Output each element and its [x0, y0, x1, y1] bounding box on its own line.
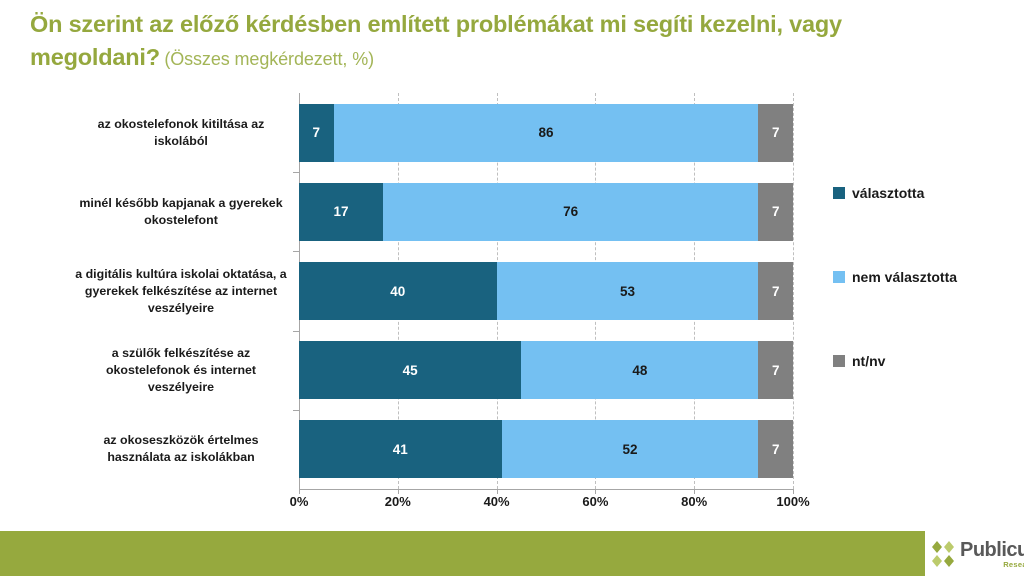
bar-segment-v-lasztotta[interactable]: 7	[299, 104, 334, 162]
legend-swatch-icon	[833, 355, 845, 367]
category-tick	[293, 251, 299, 252]
bar-row[interactable]: 7867	[299, 104, 793, 162]
bar-row[interactable]: 45487	[299, 341, 793, 399]
bar-segment-v-lasztotta[interactable]: 40	[299, 262, 497, 320]
publicus-research-logo: Publicus Research	[930, 533, 1024, 575]
logo-wordmark: Publicus Research	[960, 540, 1024, 569]
category-label: az okostelefonok kitiltása az iskolából	[75, 116, 287, 150]
bar-row[interactable]: 41527	[299, 420, 793, 478]
bar-segment-nem-v-lasztotta[interactable]: 53	[497, 262, 759, 320]
diamond-logo-icon	[930, 540, 956, 568]
x-axis-label: 60%	[582, 494, 608, 509]
plot-area: 786717767405374548741527	[299, 93, 793, 489]
x-axis-label: 0%	[290, 494, 309, 509]
bar-segment-nem-v-lasztotta[interactable]: 48	[521, 341, 758, 399]
x-axis-label: 100%	[776, 494, 809, 509]
x-axis-line	[299, 489, 794, 490]
x-axis-tick	[793, 489, 794, 494]
bar-segment-v-lasztotta[interactable]: 17	[299, 183, 383, 241]
chart-legend: választottanem választottant/nv	[833, 185, 1013, 437]
legend-label: nt/nv	[852, 353, 885, 369]
category-axis-labels: az okostelefonok kitiltása az iskolábólm…	[75, 93, 287, 489]
legend-swatch-icon	[833, 271, 845, 283]
chart-container: az okostelefonok kitiltása az iskolábólm…	[0, 0, 1024, 520]
category-label: az okoseszközök értelmes használata az i…	[75, 432, 287, 466]
bar-segment-nt-nv[interactable]: 7	[758, 104, 793, 162]
legend-label: választotta	[852, 185, 924, 201]
legend-item-v-lasztotta[interactable]: választotta	[833, 185, 1013, 201]
bar-row[interactable]: 17767	[299, 183, 793, 241]
category-tick	[293, 172, 299, 173]
category-tick	[293, 410, 299, 411]
category-label: a szülők felkészítése az okostelefonok é…	[75, 345, 287, 396]
category-label: minél később kapjanak a gyerekek okostel…	[75, 195, 287, 229]
category-label: a digitális kultúra iskolai oktatása, a …	[75, 266, 287, 317]
bar-segment-nem-v-lasztotta[interactable]: 76	[383, 183, 758, 241]
x-axis-tick	[595, 489, 596, 494]
category-tick	[293, 331, 299, 332]
footer-band	[0, 531, 925, 576]
value-axis-labels: 0%20%40%60%80%100%	[299, 494, 793, 514]
bar-segment-v-lasztotta[interactable]: 45	[299, 341, 521, 399]
bar-segment-nt-nv[interactable]: 7	[758, 341, 793, 399]
logo-name: Publicus	[960, 540, 1024, 560]
x-axis-tick	[694, 489, 695, 494]
bar-segment-nt-nv[interactable]: 7	[758, 262, 793, 320]
bar-segment-nem-v-lasztotta[interactable]: 52	[502, 420, 759, 478]
x-axis-tick	[398, 489, 399, 494]
legend-swatch-icon	[833, 187, 845, 199]
gridline-100	[793, 93, 794, 489]
legend-item-nem-v-lasztotta[interactable]: nem választotta	[833, 269, 1013, 285]
x-axis-label: 40%	[484, 494, 510, 509]
x-axis-label: 80%	[681, 494, 707, 509]
bar-segment-nt-nv[interactable]: 7	[758, 183, 793, 241]
bar-segment-nem-v-lasztotta[interactable]: 86	[334, 104, 759, 162]
x-axis-tick	[497, 489, 498, 494]
bar-row[interactable]: 40537	[299, 262, 793, 320]
x-axis-tick	[299, 489, 300, 494]
logo-subtitle: Research	[960, 561, 1024, 569]
legend-label: nem választotta	[852, 269, 957, 285]
legend-item-nt-nv[interactable]: nt/nv	[833, 353, 1013, 369]
x-axis-label: 20%	[385, 494, 411, 509]
bar-segment-v-lasztotta[interactable]: 41	[299, 420, 502, 478]
bar-segment-nt-nv[interactable]: 7	[758, 420, 793, 478]
